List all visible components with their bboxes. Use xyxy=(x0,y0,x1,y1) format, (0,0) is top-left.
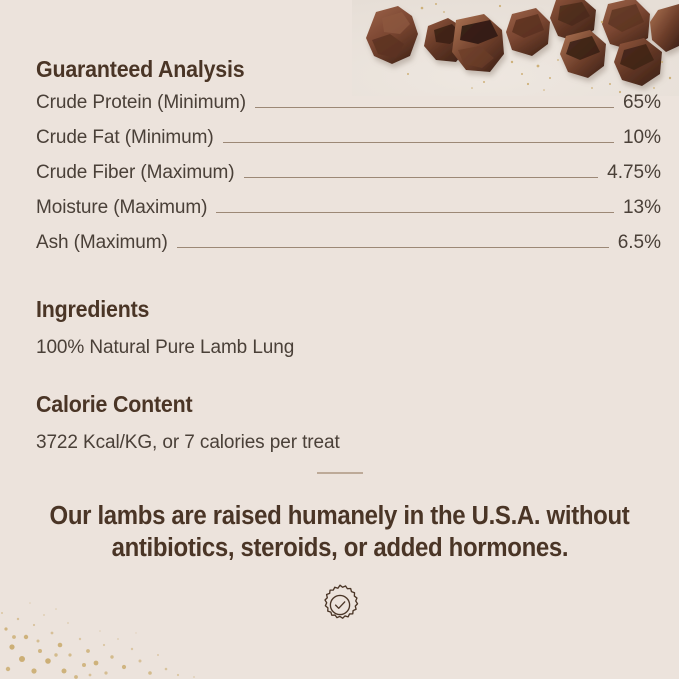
leader-line xyxy=(255,107,614,108)
nutrient-label: Moisture (Maximum) xyxy=(36,197,207,219)
nutrient-label: Ash (Maximum) xyxy=(36,232,168,254)
table-row: Moisture (Maximum) 13% xyxy=(36,197,661,232)
product-info-panel: Guaranteed Analysis Crude Protein (Minim… xyxy=(0,0,679,679)
nutrient-label: Crude Fiber (Maximum) xyxy=(36,162,235,184)
table-row: Crude Fiber (Maximum) 4.75% xyxy=(36,162,661,197)
nutrient-value: 65% xyxy=(623,92,661,114)
nutrient-value: 6.5% xyxy=(618,232,661,254)
nutrient-value: 4.75% xyxy=(607,162,661,184)
leader-line xyxy=(216,212,614,213)
check-badge-icon xyxy=(317,582,363,628)
table-row: Crude Protein (Minimum) 65% xyxy=(36,92,661,127)
nutrient-label: Crude Protein (Minimum) xyxy=(36,92,246,114)
nutrient-value: 10% xyxy=(623,127,661,149)
leader-line xyxy=(244,177,599,178)
section-divider xyxy=(317,472,363,474)
leader-line xyxy=(223,142,614,143)
sourcing-claim: Our lambs are raised humanely in the U.S… xyxy=(0,500,679,564)
table-row: Ash (Maximum) 6.5% xyxy=(36,232,661,267)
leader-line xyxy=(177,247,609,248)
hero-product-photo xyxy=(352,0,679,96)
sourcing-claim-line-1: Our lambs are raised humanely in the U.S… xyxy=(50,500,630,532)
ingredients-heading: Ingredients xyxy=(36,296,149,323)
table-row: Crude Fat (Minimum) 10% xyxy=(36,127,661,162)
calorie-content-heading: Calorie Content xyxy=(36,391,192,418)
crumb-scatter-decoration xyxy=(0,589,240,679)
ingredients-text: 100% Natural Pure Lamb Lung xyxy=(36,337,294,359)
guaranteed-analysis-heading: Guaranteed Analysis xyxy=(36,56,244,83)
nutrient-label: Crude Fat (Minimum) xyxy=(36,127,214,149)
lamb-lung-chunks-illustration xyxy=(352,0,679,96)
calorie-content-text: 3722 Kcal/KG, or 7 calories per treat xyxy=(36,432,340,454)
sourcing-claim-line-2: antibiotics, steroids, or added hormones… xyxy=(111,532,568,564)
guaranteed-analysis-table: Crude Protein (Minimum) 65% Crude Fat (M… xyxy=(36,92,661,267)
nutrient-value: 13% xyxy=(623,197,661,219)
